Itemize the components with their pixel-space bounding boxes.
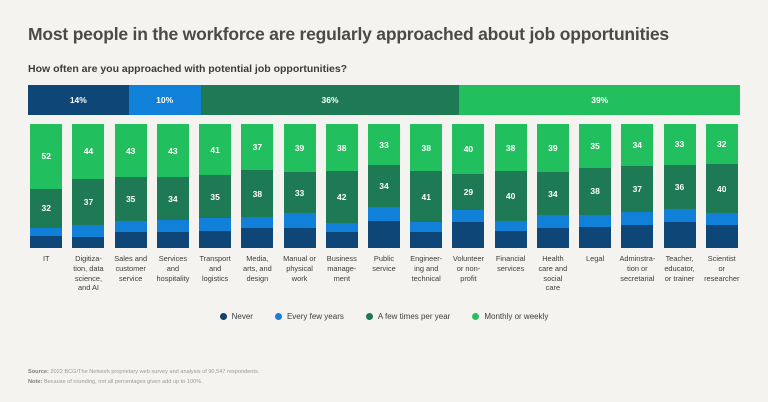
bar-segment-a-few-times-per-year: 38 xyxy=(241,170,273,217)
bar-segment-never xyxy=(326,232,358,248)
category-label: Engineer-ing andtechnical xyxy=(405,254,447,283)
bar-segment-every-few-years xyxy=(115,221,147,232)
bar-segment-never xyxy=(284,228,316,248)
bar-segment-every-few-years xyxy=(706,213,738,224)
legend-dot-icon xyxy=(220,313,227,320)
category-label: Servicesandhospitality xyxy=(152,254,194,283)
bar-segment-every-few-years xyxy=(621,212,653,224)
bar-segment-never xyxy=(157,232,189,248)
bar-segment-monthly-or-weekly: 39 xyxy=(284,124,316,172)
category-label: Businessmanage-ment xyxy=(321,254,363,283)
chart-column: 3738Media,arts, anddesign xyxy=(239,124,276,310)
legend-label: Monthly or weekly xyxy=(484,312,548,321)
chart-column: 3334Publicservice xyxy=(366,124,403,310)
bar-segment-a-few-times-per-year: 33 xyxy=(284,172,316,213)
legend-item[interactable]: Never xyxy=(220,312,253,321)
bar-segment-a-few-times-per-year: 34 xyxy=(368,165,400,207)
bar-segment-never xyxy=(115,232,147,248)
bar-segment-never xyxy=(30,236,62,248)
bar-segment-monthly-or-weekly: 37 xyxy=(241,124,273,170)
bar-segment-monthly-or-weekly: 52 xyxy=(30,124,62,188)
column-stack: 4029 xyxy=(452,124,484,248)
category-label: Sales andcustomerservice xyxy=(110,254,152,283)
bar-segment-every-few-years xyxy=(495,221,527,231)
bar-segment-monthly-or-weekly: 38 xyxy=(410,124,442,171)
category-label: Digitiza-tion, datascience,and AI xyxy=(67,254,109,293)
bar-segment-a-few-times-per-year: 35 xyxy=(199,175,231,218)
chart-column: 3538Legal xyxy=(577,124,614,310)
category-label: Transportandlogistics xyxy=(194,254,236,283)
legend-dot-icon xyxy=(275,313,282,320)
column-stack: 3841 xyxy=(410,124,442,248)
bar-segment-a-few-times-per-year: 36 xyxy=(664,165,696,209)
category-label: Manual orphysicalwork xyxy=(279,254,321,283)
chart-column: 5232IT xyxy=(28,124,65,310)
bar-segment-monthly-or-weekly: 34 xyxy=(621,124,653,166)
chart-column: 4135Transportandlogistics xyxy=(197,124,234,310)
bar-segment-a-few-times-per-year: 35 xyxy=(115,177,147,220)
chart-question-subtitle: How often are you approached with potent… xyxy=(28,63,740,75)
source-note: Source: 2022 BCG/The Network proprietary… xyxy=(28,368,259,378)
legend-dot-icon xyxy=(472,313,479,320)
note-text: Because of rounding, not all percentages… xyxy=(42,379,202,385)
bar-segment-never xyxy=(621,225,653,249)
legend-item[interactable]: A few times per year xyxy=(366,312,450,321)
column-stack: 4335 xyxy=(115,124,147,248)
column-stack: 3240 xyxy=(706,124,738,248)
bar-segment-monthly-or-weekly: 43 xyxy=(157,124,189,177)
bar-segment-a-few-times-per-year: 29 xyxy=(452,174,484,210)
rounding-note: Note: Because of rounding, not all perce… xyxy=(28,378,259,388)
column-stack: 3437 xyxy=(621,124,653,248)
chart-column: 3336Teacher,educator,or trainer xyxy=(661,124,698,310)
bar-segment-every-few-years xyxy=(452,210,484,222)
bar-segment-every-few-years xyxy=(199,218,231,230)
category-label: Legal xyxy=(574,254,616,264)
bar-segment-never xyxy=(241,228,273,248)
bar-segment-monthly-or-weekly: 44 xyxy=(72,124,104,179)
bar-segment-every-few-years xyxy=(284,213,316,228)
bar-segment-every-few-years xyxy=(579,215,611,227)
bar-segment-monthly-or-weekly: 32 xyxy=(706,124,738,164)
bar-segment-a-few-times-per-year: 32 xyxy=(30,189,62,229)
stacked-column-chart: 5232IT4437Digitiza-tion, datascience,and… xyxy=(28,124,740,310)
legend-label: A few times per year xyxy=(378,312,450,321)
chart-column: 4334Servicesandhospitality xyxy=(155,124,192,310)
column-stack: 3538 xyxy=(579,124,611,248)
bar-segment-monthly-or-weekly: 39 xyxy=(537,124,569,172)
legend-label: Every few years xyxy=(287,312,344,321)
chart-column: 3840Financialservices xyxy=(492,124,529,310)
chart-column: 3934Healthcare andsocialcare xyxy=(535,124,572,310)
column-stack: 3842 xyxy=(326,124,358,248)
summary-segment-never: 14% xyxy=(28,85,129,115)
category-label: Teacher,educator,or trainer xyxy=(659,254,701,283)
bar-segment-every-few-years xyxy=(410,222,442,232)
bar-segment-monthly-or-weekly: 40 xyxy=(452,124,484,174)
bar-segment-monthly-or-weekly: 43 xyxy=(115,124,147,177)
column-stack: 3336 xyxy=(664,124,696,248)
column-stack: 4437 xyxy=(72,124,104,248)
chart-column: 3240Scientistorresearcher xyxy=(704,124,741,310)
bar-segment-a-few-times-per-year: 37 xyxy=(72,179,104,225)
column-stack: 5232 xyxy=(30,124,62,248)
bar-segment-never xyxy=(452,222,484,248)
bar-segment-never xyxy=(537,228,569,248)
bar-segment-every-few-years xyxy=(368,207,400,221)
column-stack: 3933 xyxy=(284,124,316,248)
bar-segment-never xyxy=(410,232,442,248)
source-text: 2022 BCG/The Network proprietary web sur… xyxy=(49,369,260,375)
legend-item[interactable]: Monthly or weekly xyxy=(472,312,548,321)
overall-summary-bar: 14%10%36%39% xyxy=(28,85,740,115)
summary-segment-monthly-or-weekly: 39% xyxy=(459,85,739,115)
category-label: Volunteeror non-profit xyxy=(447,254,489,283)
category-label: Scientistorresearcher xyxy=(701,254,743,283)
footnotes: Source: 2022 BCG/The Network proprietary… xyxy=(28,368,259,388)
bar-segment-never xyxy=(72,237,104,248)
bar-segment-every-few-years xyxy=(157,220,189,232)
bar-segment-monthly-or-weekly: 35 xyxy=(579,124,611,167)
category-label: Financialservices xyxy=(490,254,532,274)
chart-column: 4335Sales andcustomerservice xyxy=(112,124,149,310)
bar-segment-a-few-times-per-year: 37 xyxy=(621,166,653,212)
column-stack: 3934 xyxy=(537,124,569,248)
source-label: Source: xyxy=(28,369,49,375)
bar-segment-a-few-times-per-year: 41 xyxy=(410,171,442,222)
category-label: Healthcare andsocialcare xyxy=(532,254,574,293)
column-stack: 3334 xyxy=(368,124,400,248)
bar-segment-monthly-or-weekly: 41 xyxy=(199,124,231,175)
chart-legend: NeverEvery few yearsA few times per year… xyxy=(28,312,740,321)
bar-segment-a-few-times-per-year: 42 xyxy=(326,171,358,223)
bar-segment-every-few-years xyxy=(664,209,696,223)
bar-segment-monthly-or-weekly: 38 xyxy=(495,124,527,171)
bar-segment-monthly-or-weekly: 33 xyxy=(664,124,696,165)
chart-column: 3842Businessmanage-ment xyxy=(324,124,361,310)
summary-segment-a-few-times-per-year: 36% xyxy=(201,85,460,115)
chart-page: Most people in the workforce are regular… xyxy=(0,0,768,402)
chart-column: 3841Engineer-ing andtechnical xyxy=(408,124,445,310)
category-label: Media,arts, anddesign xyxy=(236,254,278,283)
legend-label: Never xyxy=(232,312,253,321)
chart-column: 3933Manual orphysicalwork xyxy=(281,124,318,310)
column-stack: 4135 xyxy=(199,124,231,248)
bar-segment-a-few-times-per-year: 38 xyxy=(579,168,611,215)
bar-segment-never xyxy=(368,221,400,248)
column-stack: 4334 xyxy=(157,124,189,248)
note-label: Note: xyxy=(28,379,42,385)
bar-segment-never xyxy=(199,231,231,248)
category-label: Publicservice xyxy=(363,254,405,274)
bar-segment-a-few-times-per-year: 34 xyxy=(157,177,189,219)
category-label: IT xyxy=(25,254,67,264)
legend-dot-icon xyxy=(366,313,373,320)
chart-column: 4437Digitiza-tion, datascience,and AI xyxy=(70,124,107,310)
bar-segment-a-few-times-per-year: 40 xyxy=(706,164,738,214)
chart-column: 3437Adminstra-tion orsecretarial xyxy=(619,124,656,310)
bar-segment-never xyxy=(495,231,527,248)
column-stack: 3840 xyxy=(495,124,527,248)
bar-segment-never xyxy=(706,225,738,249)
category-label: Adminstra-tion orsecretarial xyxy=(616,254,658,283)
bar-segment-a-few-times-per-year: 34 xyxy=(537,172,569,214)
bar-segment-every-few-years xyxy=(241,217,273,228)
bar-segment-every-few-years xyxy=(537,215,569,229)
bar-segment-every-few-years xyxy=(30,228,62,235)
legend-item[interactable]: Every few years xyxy=(275,312,344,321)
summary-segment-every-few-years: 10% xyxy=(129,85,201,115)
bar-segment-monthly-or-weekly: 38 xyxy=(326,124,358,171)
bar-segment-never xyxy=(579,227,611,248)
bar-segment-every-few-years xyxy=(326,223,358,232)
chart-column: 4029Volunteeror non-profit xyxy=(450,124,487,310)
bar-segment-a-few-times-per-year: 40 xyxy=(495,171,527,221)
column-stack: 3738 xyxy=(241,124,273,248)
bar-segment-monthly-or-weekly: 33 xyxy=(368,124,400,165)
bar-segment-every-few-years xyxy=(72,225,104,237)
bar-segment-never xyxy=(664,222,696,248)
page-title: Most people in the workforce are regular… xyxy=(28,0,740,44)
